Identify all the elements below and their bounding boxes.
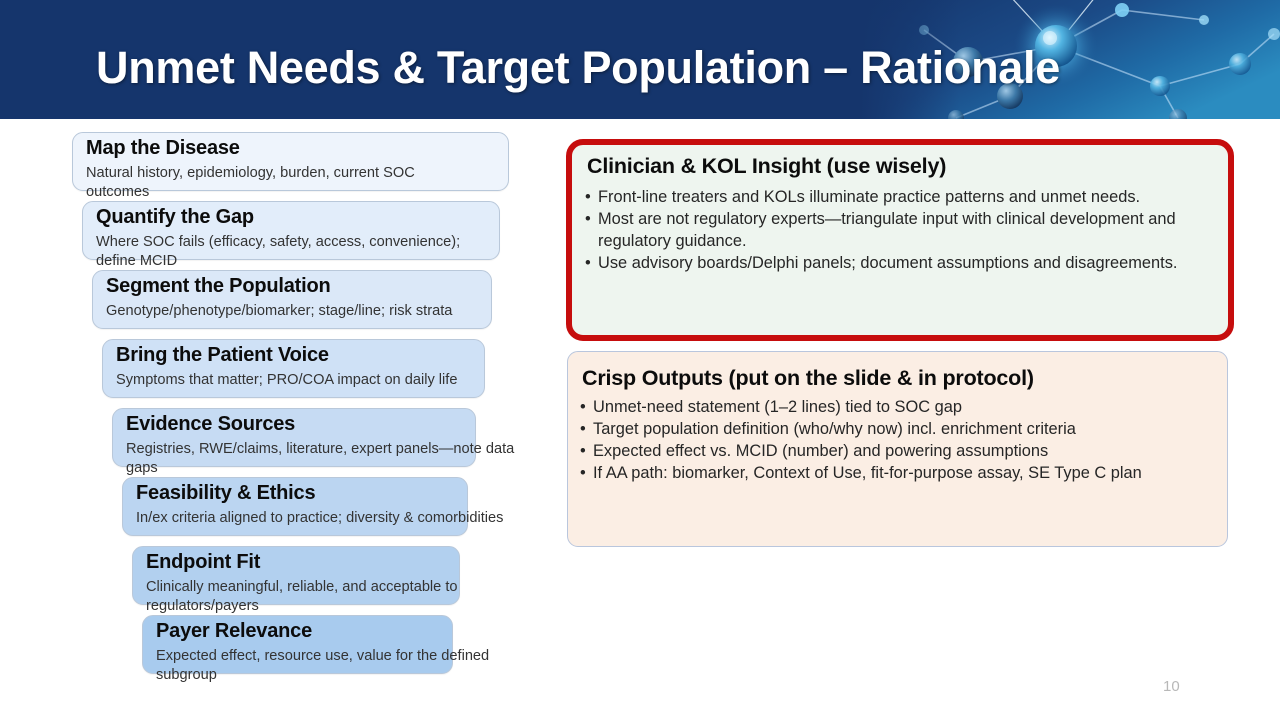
clinician-bullet-list: Front-line treaters and KOLs illuminate … bbox=[584, 186, 1218, 274]
clinician-kol-insight-panel[interactable]: Clinician & KOL Insight (use wisely) Fro… bbox=[566, 139, 1234, 341]
step-body: Registries, RWE/claims, literature, expe… bbox=[126, 440, 518, 478]
step-title: Bring the Patient Voice bbox=[116, 344, 329, 367]
step-card-feasibility-and-ethics[interactable]: Feasibility & Ethics In/ex criteria alig… bbox=[122, 477, 468, 536]
step-card-map-the-disease[interactable]: Map the Disease Natural history, epidemi… bbox=[72, 132, 509, 191]
list-item: If AA path: biomarker, Context of Use, f… bbox=[579, 462, 1217, 484]
step-body: Clinically meaningful, reliable, and acc… bbox=[146, 578, 538, 616]
slide-header-band: Unmet Needs & Target Population – Ration… bbox=[0, 0, 1280, 119]
step-title: Feasibility & Ethics bbox=[136, 482, 315, 505]
step-title: Payer Relevance bbox=[156, 620, 312, 643]
step-card-bring-the-patient-voice[interactable]: Bring the Patient Voice Symptoms that ma… bbox=[102, 339, 485, 398]
step-title: Evidence Sources bbox=[126, 413, 295, 436]
list-item: Expected effect vs. MCID (number) and po… bbox=[579, 440, 1217, 462]
step-card-segment-the-population[interactable]: Segment the Population Genotype/phenotyp… bbox=[92, 270, 492, 329]
step-title: Quantify the Gap bbox=[96, 206, 254, 229]
step-card-quantify-the-gap[interactable]: Quantify the Gap Where SOC fails (effica… bbox=[82, 201, 500, 260]
step-body: Expected effect, resource use, value for… bbox=[156, 647, 548, 685]
list-item: Target population definition (who/why no… bbox=[579, 418, 1217, 440]
page-title: Unmet Needs & Target Population – Ration… bbox=[96, 42, 1060, 94]
crisp-outputs-panel[interactable]: Crisp Outputs (put on the slide & in pro… bbox=[567, 351, 1228, 547]
step-body: Genotype/phenotype/biomarker; stage/line… bbox=[106, 302, 498, 321]
list-item: Unmet-need statement (1–2 lines) tied to… bbox=[579, 396, 1217, 418]
step-body: In/ex criteria aligned to practice; dive… bbox=[136, 509, 528, 528]
step-title: Map the Disease bbox=[86, 137, 240, 160]
list-item: Most are not regulatory experts—triangul… bbox=[584, 208, 1218, 252]
step-body: Natural history, epidemiology, burden, c… bbox=[86, 164, 478, 202]
slide-number: 10 bbox=[1163, 678, 1180, 695]
step-body: Where SOC fails (efficacy, safety, acces… bbox=[96, 233, 488, 271]
outputs-bullet-list: Unmet-need statement (1–2 lines) tied to… bbox=[579, 396, 1217, 484]
step-card-endpoint-fit[interactable]: Endpoint Fit Clinically meaningful, reli… bbox=[132, 546, 460, 605]
step-title: Segment the Population bbox=[106, 275, 331, 298]
step-card-payer-relevance[interactable]: Payer Relevance Expected effect, resourc… bbox=[142, 615, 453, 674]
step-card-evidence-sources[interactable]: Evidence Sources Registries, RWE/claims,… bbox=[112, 408, 476, 467]
step-body: Symptoms that matter; PRO/COA impact on … bbox=[116, 371, 508, 390]
step-title: Endpoint Fit bbox=[146, 551, 260, 574]
list-item: Use advisory boards/Delphi panels; docum… bbox=[584, 252, 1218, 274]
panel-title: Crisp Outputs (put on the slide & in pro… bbox=[582, 366, 1034, 391]
list-item: Front-line treaters and KOLs illuminate … bbox=[584, 186, 1218, 208]
panel-title: Clinician & KOL Insight (use wisely) bbox=[587, 154, 946, 179]
process-ladder: Map the Disease Natural history, epidemi… bbox=[0, 119, 560, 720]
